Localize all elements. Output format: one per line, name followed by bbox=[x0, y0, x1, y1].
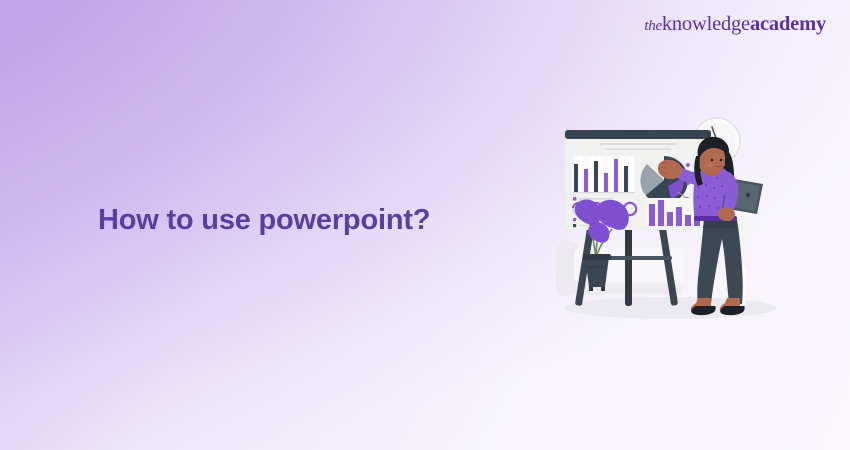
board-top-bar bbox=[565, 130, 711, 139]
brand-logo[interactable]: theknowledgeacademy bbox=[644, 14, 826, 35]
trousers bbox=[697, 220, 743, 304]
hero-illustration bbox=[552, 112, 798, 324]
presentation-scene-svg bbox=[552, 112, 798, 324]
bar-chart-striped bbox=[573, 156, 635, 193]
logo-word-knowledge: knowledge bbox=[662, 13, 750, 35]
banner-root: theknowledgeacademy How to use powerpoin… bbox=[0, 0, 850, 450]
logo-word-academy: academy bbox=[750, 13, 826, 35]
plant-leaves bbox=[575, 199, 629, 242]
logo-word-the: the bbox=[644, 18, 661, 34]
page-title: How to use powerpoint? bbox=[98, 203, 430, 238]
